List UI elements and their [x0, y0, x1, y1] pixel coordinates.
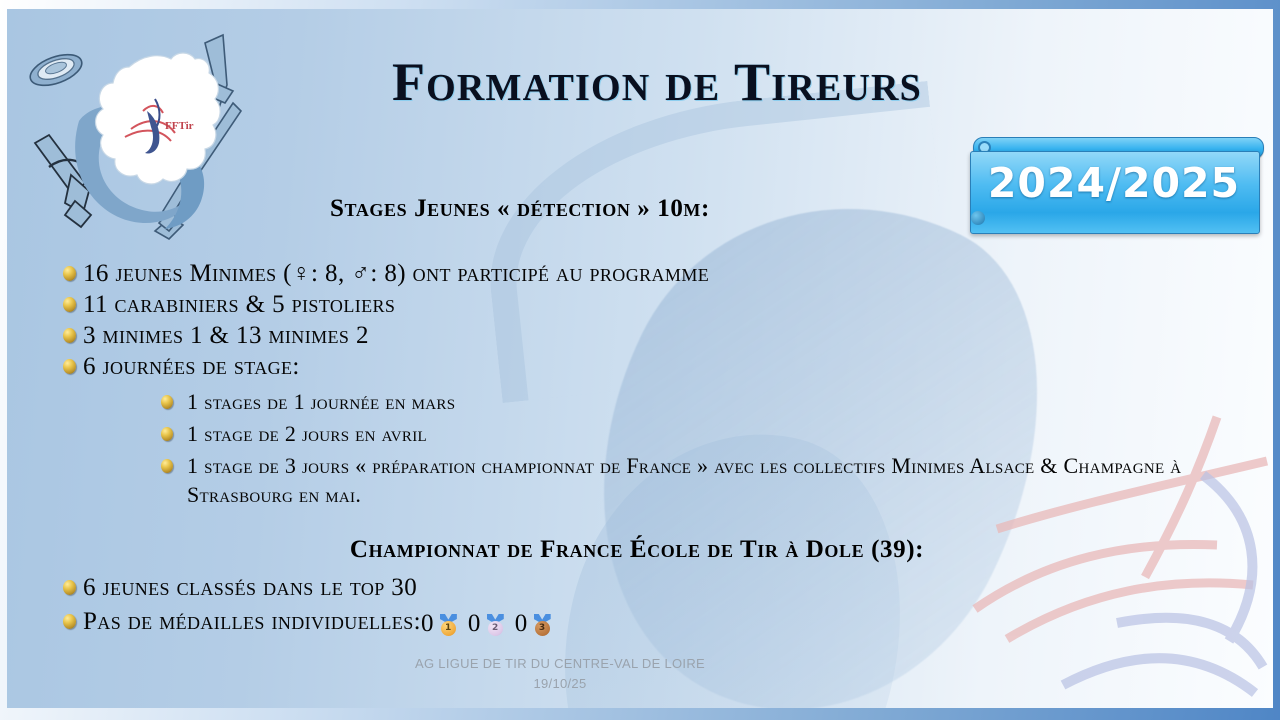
- sub-list-item-text: 1 stages de 1 journée en mars: [187, 389, 455, 414]
- list-item: 6 journées de stage:: [7, 351, 1273, 382]
- sub-list-item: 1 stages de 1 journée en mars: [7, 387, 1273, 416]
- list-item: 3 minimes 1 & 13 minimes 2: [7, 320, 1273, 351]
- bullet-dot-icon: [63, 328, 76, 343]
- list-item-text: 16 jeunes Minimes (♀: 8, ♂: 8) ont parti…: [83, 260, 709, 287]
- bullet-dot-icon: [63, 297, 76, 312]
- bullet-dot-icon: [63, 614, 76, 629]
- footer-date: 19/10/25: [7, 674, 1113, 694]
- sub-list-item-text: 1 stage de 2 jours en avril: [187, 421, 427, 446]
- sub-list-item-text: 1 stage de 3 jours « préparation champio…: [187, 451, 1273, 509]
- bullet-dot-icon: [161, 427, 173, 441]
- gold-medal-icon: 1: [439, 614, 458, 636]
- section-heading-stages: Stages Jeunes « détection » 10m:: [7, 195, 1273, 223]
- sub-list-item: 1 stage de 3 jours « préparation champio…: [7, 451, 1273, 509]
- list-item-text: Pas de médailles individuelles:: [83, 608, 421, 635]
- list-item-medals: Pas de médailles individuelles:0 1 0 2 0…: [7, 606, 1273, 639]
- list-item-text: 6 journées de stage:: [83, 353, 300, 380]
- list-item-text: 11 carabiniers & 5 pistoliers: [83, 291, 395, 318]
- sub-list-item: 1 stage de 2 jours en avril: [7, 419, 1273, 448]
- slide-content-board: FFTir Formation de Tireurs 2024/2025 Sta…: [7, 9, 1273, 708]
- footer-organization: AG LIGUE DE TIR DU CENTRE-VAL DE LOIRE: [7, 654, 1113, 674]
- medal-rank-label: 2: [488, 621, 503, 636]
- medal-count-silver: 0: [468, 610, 481, 637]
- list-item-text: 6 jeunes classés dans le top 30: [83, 574, 417, 601]
- medal-rank-label: 3: [535, 621, 550, 636]
- bronze-medal-icon: 3: [533, 614, 552, 636]
- list-item: 6 jeunes classés dans le top 30: [7, 572, 1273, 603]
- silver-medal-icon: 2: [486, 614, 505, 636]
- page-title: Formation de Tireurs: [277, 45, 1037, 119]
- list-item: 11 carabiniers & 5 pistoliers: [7, 289, 1273, 320]
- clay-target-icon: [26, 49, 86, 92]
- bullet-dot-icon: [161, 459, 173, 473]
- list-item: 16 jeunes Minimes (♀: 8, ♂: 8) ont parti…: [7, 258, 1273, 289]
- bullet-dot-icon: [63, 266, 76, 281]
- list-item-text: 3 minimes 1 & 13 minimes 2: [83, 322, 369, 349]
- bullet-dot-icon: [63, 359, 76, 374]
- bullet-list-championnat: 6 jeunes classés dans le top 30 Pas de m…: [7, 572, 1273, 639]
- france-map-shape: [96, 53, 221, 184]
- medal-counts: 0 1 0 2 0 3: [421, 608, 562, 639]
- medal-rank-label: 1: [441, 621, 456, 636]
- presentation-slide: FFTir Formation de Tireurs 2024/2025 Sta…: [0, 0, 1280, 720]
- medal-count-gold: 0: [421, 610, 434, 637]
- medal-count-bronze: 0: [515, 610, 528, 637]
- slide-footer: AG LIGUE DE TIR DU CENTRE-VAL DE LOIRE 1…: [7, 654, 1273, 694]
- bullet-dot-icon: [161, 395, 173, 409]
- bullet-list-stages: 16 jeunes Minimes (♀: 8, ♂: 8) ont parti…: [7, 258, 1273, 509]
- section-heading-championnat: Championnat de France École de Tir à Dol…: [7, 536, 1273, 564]
- bullet-dot-icon: [63, 580, 76, 595]
- logo-monogram-text: FFTir: [165, 120, 194, 132]
